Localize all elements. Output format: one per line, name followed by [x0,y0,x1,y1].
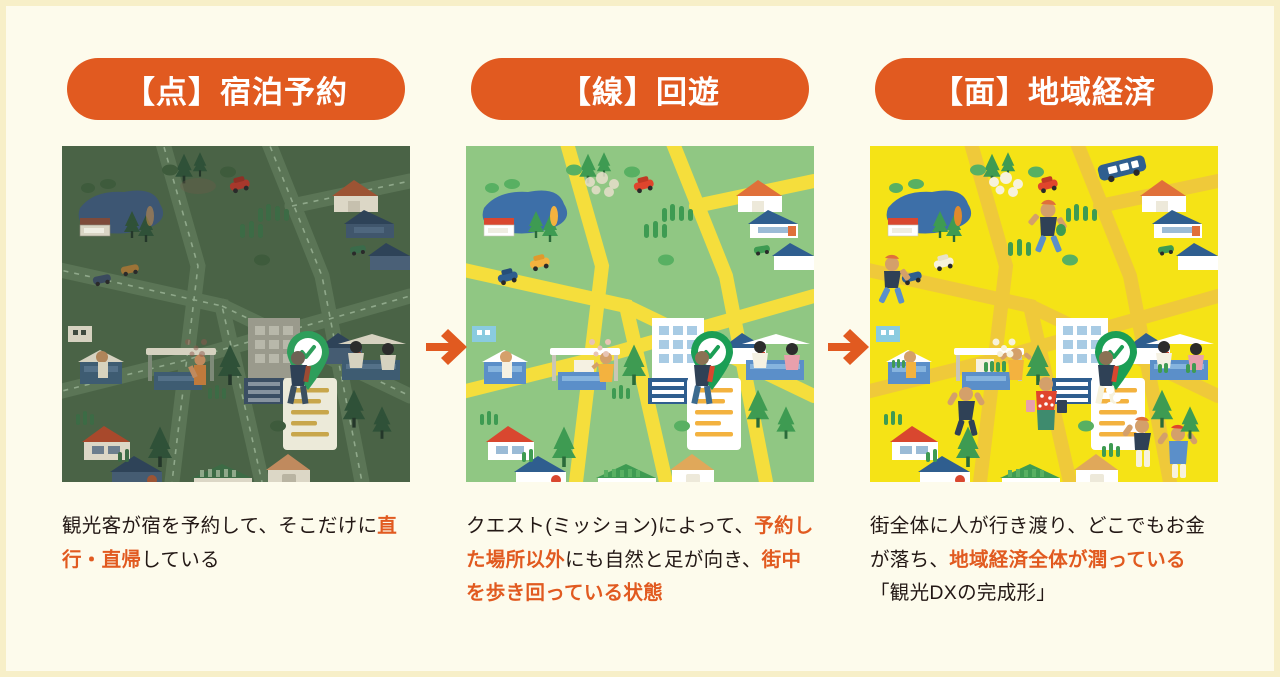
arrow-right-icon-1 [426,324,472,370]
caption-part: にも自然と足が向き、 [565,549,762,571]
caption-highlight: 地域経済全体が潤っている [949,549,1186,571]
column-line: 【線】回遊 [466,58,814,671]
page-frame: 【点】宿泊予約 [6,6,1274,671]
column-area: 【面】地域経済 [870,58,1218,671]
column-point: 【点】宿泊予約 [62,58,410,671]
caption-line: クエスト(ミッション)によって、予約した場所以外にも自然と足が向き、街中を歩き回… [466,510,814,611]
map-illustration-point [62,146,410,482]
caption-part: 観光客が宿を予約して、そこだけに [62,515,377,537]
panels-container: 【点】宿泊予約 [6,6,1274,671]
header-pill-area-label: 【面】地域経済 [932,67,1156,112]
header-pill-point-label: 【点】宿泊予約 [124,67,348,112]
caption-part: している [141,549,220,571]
header-pill-line: 【線】回遊 [471,58,809,120]
caption-point: 観光客が宿を予約して、そこだけに直行・直帰している [62,510,410,577]
map-illustration-line [466,146,814,482]
header-pill-area: 【面】地域経済 [875,58,1213,120]
caption-part: 「観光DXの完成形」 [870,582,1056,604]
arrow-right-icon-2 [828,324,874,370]
header-pill-line-label: 【線】回遊 [560,67,720,112]
caption-part: クエスト(ミッション)によって、 [466,515,754,537]
header-pill-point: 【点】宿泊予約 [67,58,405,120]
map-illustration-area [870,146,1218,482]
caption-area: 街全体に人が行き渡り、どこでもお金が落ち、地域経済全体が潤っている「観光DXの完… [870,510,1218,611]
